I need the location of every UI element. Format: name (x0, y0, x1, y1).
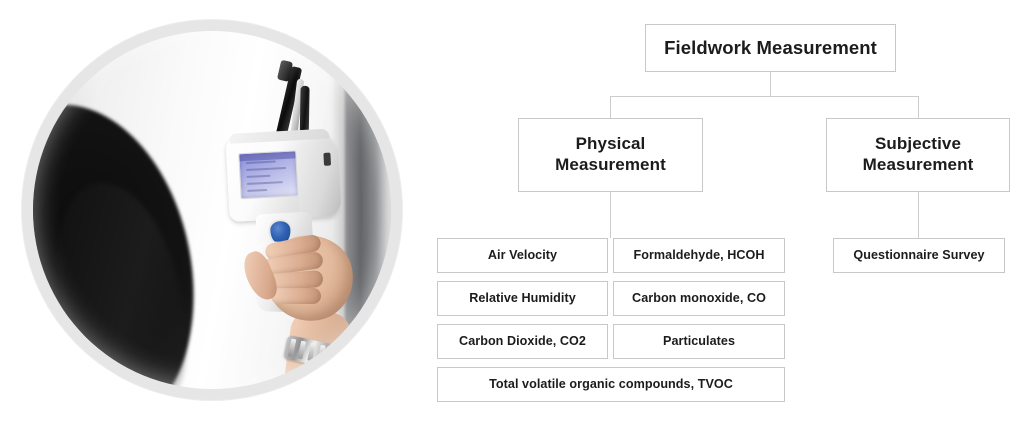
node-leaf-formaldehyde[interactable]: Formaldehyde, HCOH (613, 238, 785, 273)
node-leaf-particulates[interactable]: Particulates (613, 324, 785, 359)
node-leaf-air-velocity[interactable]: Air Velocity (437, 238, 608, 273)
node-leaf-questionnaire-survey[interactable]: Questionnaire Survey (833, 238, 1005, 273)
node-leaf-relative-humidity[interactable]: Relative Humidity (437, 281, 608, 316)
connector-physical-to-leaves (610, 192, 611, 238)
connector-root-stem (770, 72, 771, 96)
connector-to-physical (610, 96, 611, 118)
node-subjective-measurement[interactable]: Subjective Measurement (826, 118, 1010, 192)
connector-branch-bus (610, 96, 918, 97)
fieldwork-measurement-hierarchy: Fieldwork Measurement Physical Measureme… (0, 0, 1024, 427)
connector-to-subjective (918, 96, 919, 118)
node-leaf-carbon-monoxide[interactable]: Carbon monoxide, CO (613, 281, 785, 316)
node-physical-measurement[interactable]: Physical Measurement (518, 118, 703, 192)
node-leaf-tvoc[interactable]: Total volatile organic compounds, TVOC (437, 367, 785, 402)
node-root-fieldwork-measurement[interactable]: Fieldwork Measurement (645, 24, 896, 72)
node-leaf-carbon-dioxide[interactable]: Carbon Dioxide, CO2 (437, 324, 608, 359)
connector-subjective-to-leaves (918, 192, 919, 238)
